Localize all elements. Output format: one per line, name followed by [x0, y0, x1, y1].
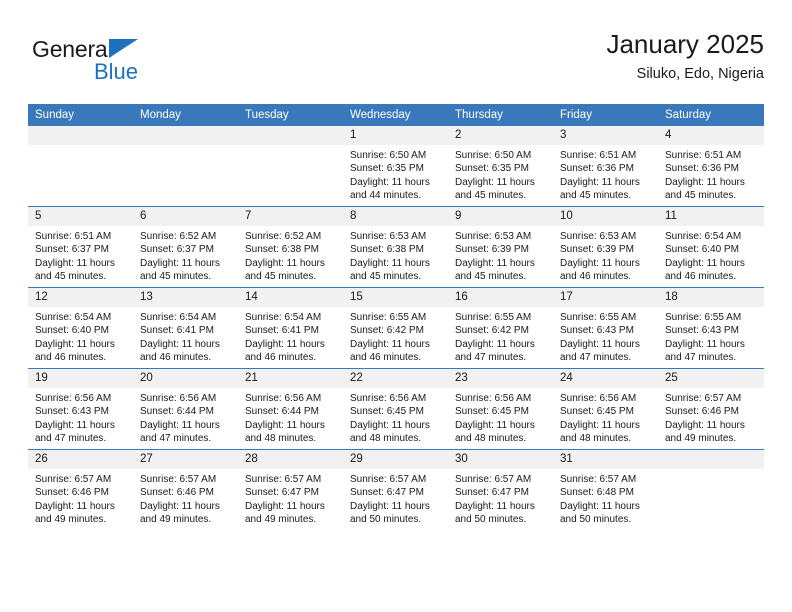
sunset-text: Sunset: 6:43 PM: [560, 324, 652, 337]
sunset-text: Sunset: 6:36 PM: [560, 162, 652, 175]
calendar-header-row: Sunday Monday Tuesday Wednesday Thursday…: [28, 104, 764, 126]
sunset-text: Sunset: 6:38 PM: [245, 243, 337, 256]
sunrise-text: Sunrise: 6:53 AM: [350, 230, 442, 243]
day-number: 11: [658, 207, 764, 226]
day-number: 23: [448, 369, 553, 388]
generalblue-logo[interactable]: General Blue: [32, 36, 232, 62]
daylight-text: Daylight: 11 hours and 48 minutes.: [350, 419, 442, 446]
sunrise-text: Sunrise: 6:57 AM: [245, 473, 337, 486]
sunrise-text: Sunrise: 6:50 AM: [350, 149, 442, 162]
daylight-text: Daylight: 11 hours and 45 minutes.: [665, 176, 758, 203]
daylight-text: Daylight: 11 hours and 48 minutes.: [455, 419, 547, 446]
calendar-day-cell[interactable]: 1Sunrise: 6:50 AMSunset: 6:35 PMDaylight…: [343, 126, 448, 207]
calendar-day-cell[interactable]: 21Sunrise: 6:56 AMSunset: 6:44 PMDayligh…: [238, 369, 343, 450]
day-number: 13: [133, 288, 238, 307]
daylight-text: Daylight: 11 hours and 49 minutes.: [140, 500, 232, 527]
day-sun-info: Sunrise: 6:55 AMSunset: 6:42 PMDaylight:…: [343, 307, 448, 365]
day-number: 30: [448, 450, 553, 469]
daylight-text: Daylight: 11 hours and 47 minutes.: [140, 419, 232, 446]
daylight-text: Daylight: 11 hours and 46 minutes.: [35, 338, 127, 365]
day-number: 17: [553, 288, 658, 307]
calendar-week-row: 1Sunrise: 6:50 AMSunset: 6:35 PMDaylight…: [28, 126, 764, 207]
sunrise-text: Sunrise: 6:54 AM: [35, 311, 127, 324]
calendar-day-cell[interactable]: 10Sunrise: 6:53 AMSunset: 6:39 PMDayligh…: [553, 207, 658, 288]
day-number: [133, 126, 238, 145]
calendar-day-cell[interactable]: 9Sunrise: 6:53 AMSunset: 6:39 PMDaylight…: [448, 207, 553, 288]
day-sun-info: Sunrise: 6:57 AMSunset: 6:47 PMDaylight:…: [238, 469, 343, 527]
day-sun-info: Sunrise: 6:55 AMSunset: 6:43 PMDaylight:…: [658, 307, 764, 365]
daylight-text: Daylight: 11 hours and 50 minutes.: [350, 500, 442, 527]
day-sun-info: Sunrise: 6:53 AMSunset: 6:39 PMDaylight:…: [448, 226, 553, 284]
sunrise-text: Sunrise: 6:54 AM: [245, 311, 337, 324]
day-sun-info: Sunrise: 6:57 AMSunset: 6:46 PMDaylight:…: [133, 469, 238, 527]
calendar-day-cell[interactable]: 13Sunrise: 6:54 AMSunset: 6:41 PMDayligh…: [133, 288, 238, 369]
day-sun-info: Sunrise: 6:56 AMSunset: 6:44 PMDaylight:…: [133, 388, 238, 446]
sunrise-text: Sunrise: 6:54 AM: [665, 230, 758, 243]
day-number: 2: [448, 126, 553, 145]
calendar-day-cell[interactable]: 11Sunrise: 6:54 AMSunset: 6:40 PMDayligh…: [658, 207, 764, 288]
calendar-day-cell-empty: [658, 450, 764, 531]
daylight-text: Daylight: 11 hours and 45 minutes.: [350, 257, 442, 284]
day-sun-info: Sunrise: 6:56 AMSunset: 6:45 PMDaylight:…: [448, 388, 553, 446]
daylight-text: Daylight: 11 hours and 50 minutes.: [455, 500, 547, 527]
daylight-text: Daylight: 11 hours and 49 minutes.: [35, 500, 127, 527]
daylight-text: Daylight: 11 hours and 50 minutes.: [560, 500, 652, 527]
sunrise-text: Sunrise: 6:56 AM: [455, 392, 547, 405]
day-number: 4: [658, 126, 764, 145]
daylight-text: Daylight: 11 hours and 45 minutes.: [455, 257, 547, 284]
sunset-text: Sunset: 6:40 PM: [35, 324, 127, 337]
calendar-day-cell[interactable]: 14Sunrise: 6:54 AMSunset: 6:41 PMDayligh…: [238, 288, 343, 369]
daylight-text: Daylight: 11 hours and 45 minutes.: [35, 257, 127, 284]
day-sun-info: Sunrise: 6:55 AMSunset: 6:42 PMDaylight:…: [448, 307, 553, 365]
day-number: 1: [343, 126, 448, 145]
day-number: 22: [343, 369, 448, 388]
calendar-week-row: 5Sunrise: 6:51 AMSunset: 6:37 PMDaylight…: [28, 207, 764, 288]
day-number: 3: [553, 126, 658, 145]
sunrise-text: Sunrise: 6:55 AM: [350, 311, 442, 324]
calendar-week-row: 26Sunrise: 6:57 AMSunset: 6:46 PMDayligh…: [28, 450, 764, 531]
weekday-header-monday: Monday: [133, 104, 238, 126]
calendar-day-cell[interactable]: 22Sunrise: 6:56 AMSunset: 6:45 PMDayligh…: [343, 369, 448, 450]
daylight-text: Daylight: 11 hours and 48 minutes.: [245, 419, 337, 446]
sunset-text: Sunset: 6:36 PM: [665, 162, 758, 175]
sunrise-text: Sunrise: 6:55 AM: [665, 311, 758, 324]
sunrise-text: Sunrise: 6:56 AM: [560, 392, 652, 405]
sunset-text: Sunset: 6:35 PM: [350, 162, 442, 175]
day-sun-info: Sunrise: 6:56 AMSunset: 6:45 PMDaylight:…: [343, 388, 448, 446]
day-number: [658, 450, 764, 469]
calendar-day-cell[interactable]: 28Sunrise: 6:57 AMSunset: 6:47 PMDayligh…: [238, 450, 343, 531]
day-number: 24: [553, 369, 658, 388]
day-sun-info: Sunrise: 6:57 AMSunset: 6:48 PMDaylight:…: [553, 469, 658, 527]
daylight-text: Daylight: 11 hours and 45 minutes.: [245, 257, 337, 284]
sunset-text: Sunset: 6:46 PM: [140, 486, 232, 499]
calendar-day-cell[interactable]: 15Sunrise: 6:55 AMSunset: 6:42 PMDayligh…: [343, 288, 448, 369]
sunrise-text: Sunrise: 6:57 AM: [455, 473, 547, 486]
day-sun-info: Sunrise: 6:57 AMSunset: 6:46 PMDaylight:…: [658, 388, 764, 446]
weekday-header-wednesday: Wednesday: [343, 104, 448, 126]
daylight-text: Daylight: 11 hours and 45 minutes.: [140, 257, 232, 284]
calendar-day-cell[interactable]: 5Sunrise: 6:51 AMSunset: 6:37 PMDaylight…: [28, 207, 133, 288]
calendar-day-cell[interactable]: 18Sunrise: 6:55 AMSunset: 6:43 PMDayligh…: [658, 288, 764, 369]
sunrise-sunset-calendar: Sunday Monday Tuesday Wednesday Thursday…: [28, 104, 764, 530]
page-header: General Blue January 2025 Siluko, Edo, N…: [28, 28, 764, 98]
daylight-text: Daylight: 11 hours and 46 minutes.: [245, 338, 337, 365]
day-sun-info: Sunrise: 6:50 AMSunset: 6:35 PMDaylight:…: [448, 145, 553, 203]
day-number: 19: [28, 369, 133, 388]
daylight-text: Daylight: 11 hours and 47 minutes.: [665, 338, 758, 365]
calendar-day-cell[interactable]: 19Sunrise: 6:56 AMSunset: 6:43 PMDayligh…: [28, 369, 133, 450]
sunset-text: Sunset: 6:40 PM: [665, 243, 758, 256]
sunset-text: Sunset: 6:43 PM: [35, 405, 127, 418]
calendar-day-cell[interactable]: 12Sunrise: 6:54 AMSunset: 6:40 PMDayligh…: [28, 288, 133, 369]
sunset-text: Sunset: 6:37 PM: [140, 243, 232, 256]
calendar-day-cell[interactable]: 26Sunrise: 6:57 AMSunset: 6:46 PMDayligh…: [28, 450, 133, 531]
day-number: 9: [448, 207, 553, 226]
sunset-text: Sunset: 6:45 PM: [455, 405, 547, 418]
calendar-day-cell[interactable]: 8Sunrise: 6:53 AMSunset: 6:38 PMDaylight…: [343, 207, 448, 288]
sunrise-text: Sunrise: 6:57 AM: [350, 473, 442, 486]
sunrise-text: Sunrise: 6:55 AM: [560, 311, 652, 324]
daylight-text: Daylight: 11 hours and 46 minutes.: [665, 257, 758, 284]
sunrise-text: Sunrise: 6:53 AM: [455, 230, 547, 243]
calendar-day-cell[interactable]: 23Sunrise: 6:56 AMSunset: 6:45 PMDayligh…: [448, 369, 553, 450]
sunset-text: Sunset: 6:42 PM: [455, 324, 547, 337]
sunset-text: Sunset: 6:39 PM: [455, 243, 547, 256]
sunrise-text: Sunrise: 6:53 AM: [560, 230, 652, 243]
daylight-text: Daylight: 11 hours and 46 minutes.: [350, 338, 442, 365]
sunrise-text: Sunrise: 6:51 AM: [665, 149, 758, 162]
sunset-text: Sunset: 6:37 PM: [35, 243, 127, 256]
day-number: 29: [343, 450, 448, 469]
calendar-day-cell[interactable]: 4Sunrise: 6:51 AMSunset: 6:36 PMDaylight…: [658, 126, 764, 207]
calendar-day-cell[interactable]: 17Sunrise: 6:55 AMSunset: 6:43 PMDayligh…: [553, 288, 658, 369]
weekday-header-thursday: Thursday: [448, 104, 553, 126]
day-number: 8: [343, 207, 448, 226]
sunset-text: Sunset: 6:42 PM: [350, 324, 442, 337]
calendar-day-cell[interactable]: 16Sunrise: 6:55 AMSunset: 6:42 PMDayligh…: [448, 288, 553, 369]
calendar-day-cell-empty: [133, 126, 238, 207]
calendar-day-cell[interactable]: 6Sunrise: 6:52 AMSunset: 6:37 PMDaylight…: [133, 207, 238, 288]
sunset-text: Sunset: 6:41 PM: [245, 324, 337, 337]
day-number: 7: [238, 207, 343, 226]
sunrise-text: Sunrise: 6:57 AM: [665, 392, 758, 405]
day-number: 20: [133, 369, 238, 388]
day-sun-info: Sunrise: 6:51 AMSunset: 6:36 PMDaylight:…: [658, 145, 764, 203]
calendar-day-cell[interactable]: 20Sunrise: 6:56 AMSunset: 6:44 PMDayligh…: [133, 369, 238, 450]
daylight-text: Daylight: 11 hours and 44 minutes.: [350, 176, 442, 203]
day-sun-info: Sunrise: 6:53 AMSunset: 6:39 PMDaylight:…: [553, 226, 658, 284]
sunset-text: Sunset: 6:45 PM: [350, 405, 442, 418]
day-sun-info: Sunrise: 6:57 AMSunset: 6:47 PMDaylight:…: [448, 469, 553, 527]
day-sun-info: Sunrise: 6:52 AMSunset: 6:37 PMDaylight:…: [133, 226, 238, 284]
calendar-body: 1Sunrise: 6:50 AMSunset: 6:35 PMDaylight…: [28, 126, 764, 530]
day-sun-info: Sunrise: 6:51 AMSunset: 6:36 PMDaylight:…: [553, 145, 658, 203]
calendar-week-row: 19Sunrise: 6:56 AMSunset: 6:43 PMDayligh…: [28, 369, 764, 450]
day-sun-info: Sunrise: 6:56 AMSunset: 6:43 PMDaylight:…: [28, 388, 133, 446]
sunrise-text: Sunrise: 6:57 AM: [140, 473, 232, 486]
sunset-text: Sunset: 6:47 PM: [350, 486, 442, 499]
sunrise-text: Sunrise: 6:56 AM: [350, 392, 442, 405]
daylight-text: Daylight: 11 hours and 47 minutes.: [455, 338, 547, 365]
day-number: 10: [553, 207, 658, 226]
sunset-text: Sunset: 6:43 PM: [665, 324, 758, 337]
sunset-text: Sunset: 6:38 PM: [350, 243, 442, 256]
weekday-header-saturday: Saturday: [658, 104, 764, 126]
daylight-text: Daylight: 11 hours and 47 minutes.: [560, 338, 652, 365]
weekday-header-tuesday: Tuesday: [238, 104, 343, 126]
day-sun-info: Sunrise: 6:54 AMSunset: 6:41 PMDaylight:…: [238, 307, 343, 365]
page-title: January 2025: [606, 28, 764, 60]
day-number: 14: [238, 288, 343, 307]
day-number: 25: [658, 369, 764, 388]
day-number: 27: [133, 450, 238, 469]
sunrise-text: Sunrise: 6:55 AM: [455, 311, 547, 324]
calendar-day-cell[interactable]: 30Sunrise: 6:57 AMSunset: 6:47 PMDayligh…: [448, 450, 553, 531]
day-sun-info: Sunrise: 6:51 AMSunset: 6:37 PMDaylight:…: [28, 226, 133, 284]
day-number: [238, 126, 343, 145]
day-number: [28, 126, 133, 145]
day-number: 12: [28, 288, 133, 307]
sunset-text: Sunset: 6:35 PM: [455, 162, 547, 175]
day-number: 18: [658, 288, 764, 307]
day-number: 31: [553, 450, 658, 469]
day-number: 6: [133, 207, 238, 226]
day-number: 21: [238, 369, 343, 388]
daylight-text: Daylight: 11 hours and 45 minutes.: [455, 176, 547, 203]
day-number: 16: [448, 288, 553, 307]
daylight-text: Daylight: 11 hours and 47 minutes.: [35, 419, 127, 446]
daylight-text: Daylight: 11 hours and 49 minutes.: [665, 419, 758, 446]
weekday-header-sunday: Sunday: [28, 104, 133, 126]
day-sun-info: Sunrise: 6:54 AMSunset: 6:40 PMDaylight:…: [28, 307, 133, 365]
day-sun-info: Sunrise: 6:57 AMSunset: 6:46 PMDaylight:…: [28, 469, 133, 527]
sunset-text: Sunset: 6:46 PM: [665, 405, 758, 418]
sunset-text: Sunset: 6:39 PM: [560, 243, 652, 256]
daylight-text: Daylight: 11 hours and 46 minutes.: [560, 257, 652, 284]
day-sun-info: Sunrise: 6:50 AMSunset: 6:35 PMDaylight:…: [343, 145, 448, 203]
daylight-text: Daylight: 11 hours and 45 minutes.: [560, 176, 652, 203]
sunset-text: Sunset: 6:46 PM: [35, 486, 127, 499]
sunset-text: Sunset: 6:44 PM: [140, 405, 232, 418]
day-sun-info: Sunrise: 6:55 AMSunset: 6:43 PMDaylight:…: [553, 307, 658, 365]
calendar-day-cell[interactable]: 31Sunrise: 6:57 AMSunset: 6:48 PMDayligh…: [553, 450, 658, 531]
sunrise-text: Sunrise: 6:57 AM: [560, 473, 652, 486]
sunrise-text: Sunrise: 6:52 AM: [140, 230, 232, 243]
sunset-text: Sunset: 6:47 PM: [455, 486, 547, 499]
day-sun-info: Sunrise: 6:54 AMSunset: 6:40 PMDaylight:…: [658, 226, 764, 284]
daylight-text: Daylight: 11 hours and 48 minutes.: [560, 419, 652, 446]
day-sun-info: Sunrise: 6:56 AMSunset: 6:45 PMDaylight:…: [553, 388, 658, 446]
sunrise-text: Sunrise: 6:56 AM: [35, 392, 127, 405]
sunrise-text: Sunrise: 6:51 AM: [560, 149, 652, 162]
sunset-text: Sunset: 6:41 PM: [140, 324, 232, 337]
sunrise-text: Sunrise: 6:56 AM: [245, 392, 337, 405]
sunset-text: Sunset: 6:45 PM: [560, 405, 652, 418]
daylight-text: Daylight: 11 hours and 49 minutes.: [245, 500, 337, 527]
calendar-day-cell-empty: [28, 126, 133, 207]
calendar-page: General Blue January 2025 Siluko, Edo, N…: [0, 0, 792, 612]
calendar-day-cell[interactable]: 2Sunrise: 6:50 AMSunset: 6:35 PMDaylight…: [448, 126, 553, 207]
day-number: 5: [28, 207, 133, 226]
calendar-day-cell[interactable]: 3Sunrise: 6:51 AMSunset: 6:36 PMDaylight…: [553, 126, 658, 207]
title-block: January 2025 Siluko, Edo, Nigeria: [606, 28, 764, 85]
day-sun-info: Sunrise: 6:53 AMSunset: 6:38 PMDaylight:…: [343, 226, 448, 284]
calendar-day-cell-empty: [238, 126, 343, 207]
calendar-day-cell[interactable]: 29Sunrise: 6:57 AMSunset: 6:47 PMDayligh…: [343, 450, 448, 531]
sunrise-text: Sunrise: 6:50 AM: [455, 149, 547, 162]
day-sun-info: Sunrise: 6:56 AMSunset: 6:44 PMDaylight:…: [238, 388, 343, 446]
logo-triangle-icon: [109, 39, 138, 58]
calendar-day-cell[interactable]: 7Sunrise: 6:52 AMSunset: 6:38 PMDaylight…: [238, 207, 343, 288]
day-number: 15: [343, 288, 448, 307]
weekday-header-friday: Friday: [553, 104, 658, 126]
day-sun-info: Sunrise: 6:57 AMSunset: 6:47 PMDaylight:…: [343, 469, 448, 527]
sunset-text: Sunset: 6:47 PM: [245, 486, 337, 499]
page-subtitle-location: Siluko, Edo, Nigeria: [606, 63, 764, 85]
day-sun-info: Sunrise: 6:52 AMSunset: 6:38 PMDaylight:…: [238, 226, 343, 284]
daylight-text: Daylight: 11 hours and 46 minutes.: [140, 338, 232, 365]
sunset-text: Sunset: 6:44 PM: [245, 405, 337, 418]
sunrise-text: Sunrise: 6:57 AM: [35, 473, 127, 486]
sunrise-text: Sunrise: 6:51 AM: [35, 230, 127, 243]
day-number: 28: [238, 450, 343, 469]
calendar-day-cell[interactable]: 27Sunrise: 6:57 AMSunset: 6:46 PMDayligh…: [133, 450, 238, 531]
day-sun-info: Sunrise: 6:54 AMSunset: 6:41 PMDaylight:…: [133, 307, 238, 365]
calendar-day-cell[interactable]: 25Sunrise: 6:57 AMSunset: 6:46 PMDayligh…: [658, 369, 764, 450]
sunset-text: Sunset: 6:48 PM: [560, 486, 652, 499]
sunrise-text: Sunrise: 6:56 AM: [140, 392, 232, 405]
sunrise-text: Sunrise: 6:52 AM: [245, 230, 337, 243]
logo-text-blue: Blue: [94, 60, 138, 84]
sunrise-text: Sunrise: 6:54 AM: [140, 311, 232, 324]
calendar-week-row: 12Sunrise: 6:54 AMSunset: 6:40 PMDayligh…: [28, 288, 764, 369]
day-number: 26: [28, 450, 133, 469]
calendar-day-cell[interactable]: 24Sunrise: 6:56 AMSunset: 6:45 PMDayligh…: [553, 369, 658, 450]
